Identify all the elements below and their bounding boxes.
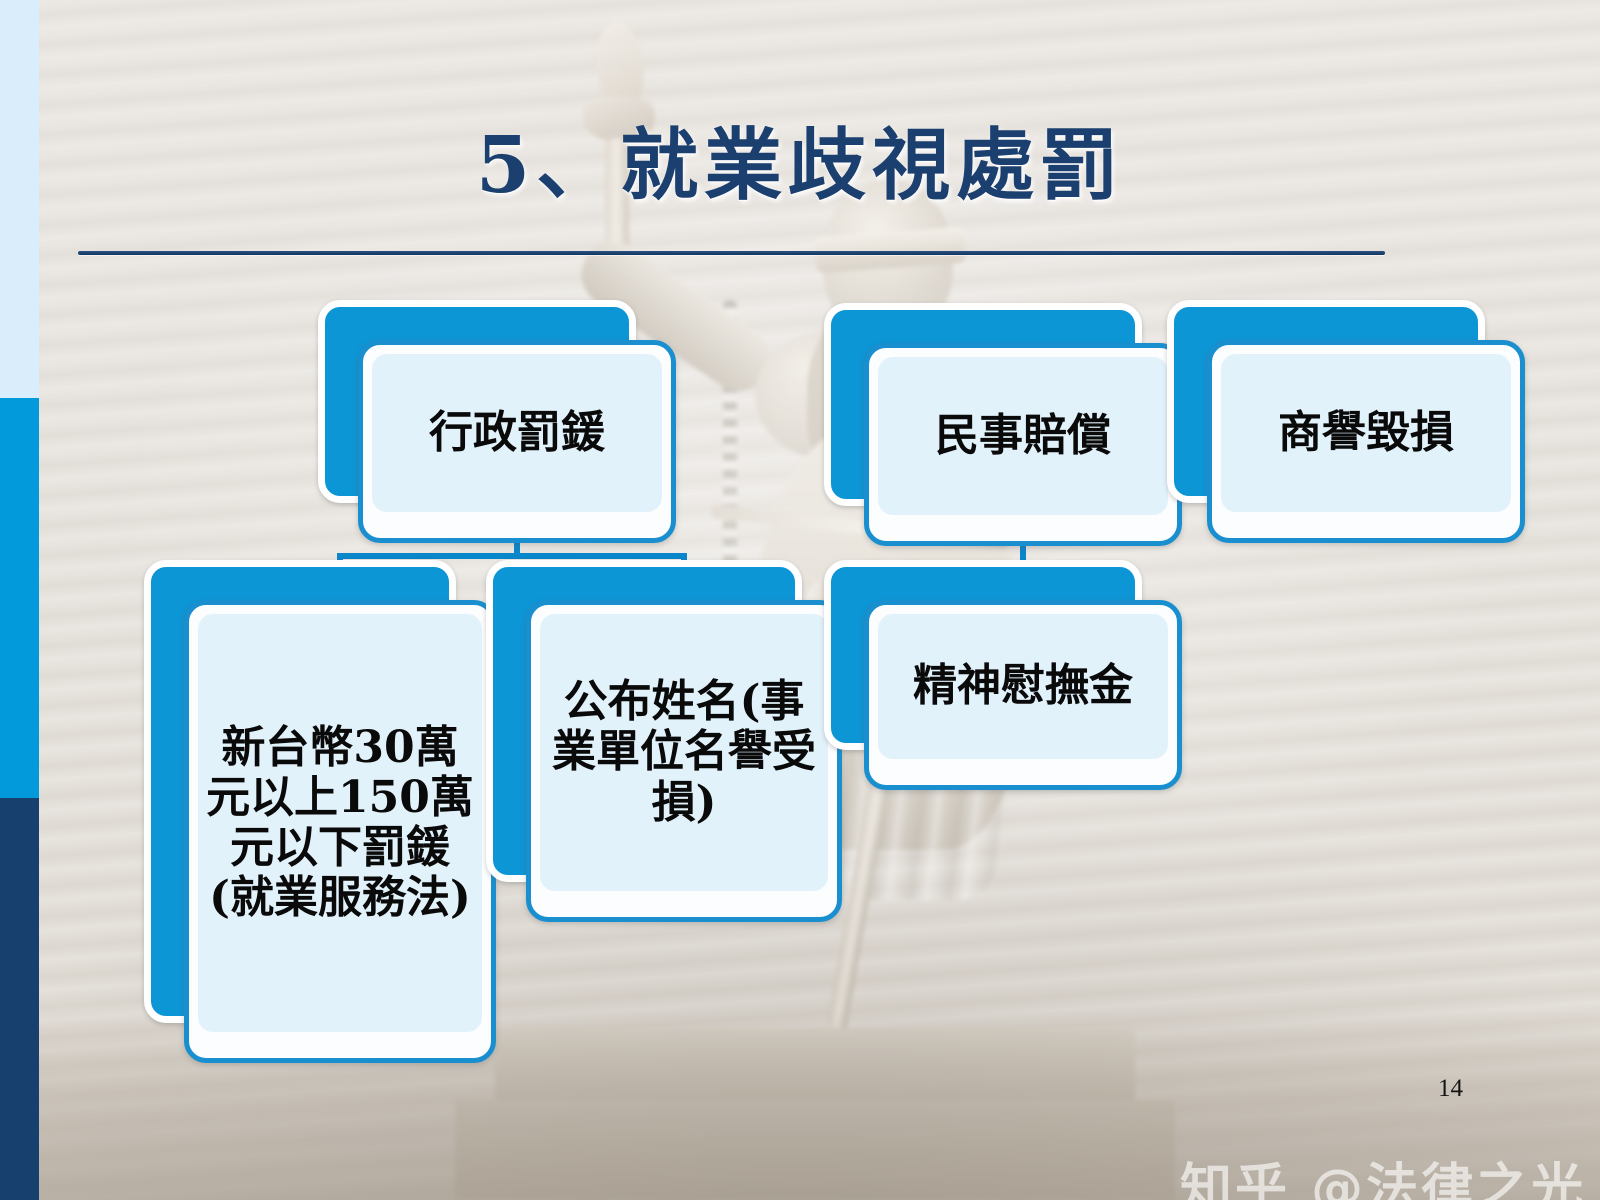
watermark-label: 知乎 @法律之光 xyxy=(1180,1146,1586,1200)
card-front-panel: 商譽毀損 xyxy=(1207,340,1525,543)
card-inner-fill: 民事賠償 xyxy=(878,357,1168,515)
card-front-panel: 精神慰撫金 xyxy=(864,600,1182,790)
card-label: 新台幣30萬元以上150萬元以下罰鍰(就業服務法) xyxy=(198,723,482,924)
card-inner-fill: 行政罰鍰 xyxy=(372,354,662,512)
card-front-panel: 新台幣30萬元以上150萬元以下罰鍰(就業服務法) xyxy=(184,600,496,1063)
sidebar-band-navy xyxy=(0,798,39,1200)
card-label: 民事賠償 xyxy=(929,411,1117,461)
title-divider-rule xyxy=(78,251,1385,255)
diagram-card-publish-name[interactable]: 公布姓名(事業單位名譽受損) xyxy=(486,560,842,922)
diagram-card-civil-compensation[interactable]: 民事賠償 xyxy=(824,303,1182,546)
card-label: 精神慰撫金 xyxy=(907,661,1139,711)
card-label: 行政罰鍰 xyxy=(423,408,611,458)
sidebar-band-bright xyxy=(0,398,39,798)
card-inner-fill: 商譽毀損 xyxy=(1221,354,1511,512)
diagram-card-goodwill-damage[interactable]: 商譽毀損 xyxy=(1167,300,1525,543)
slide-canvas: 5、就業歧視處罰 行政罰鍰民事賠償商譽毀損新台幣30萬元以上150萬元以下罰鍰(… xyxy=(0,0,1600,1200)
card-inner-fill: 公布姓名(事業單位名譽受損) xyxy=(540,614,828,891)
page-number: 14 xyxy=(1438,1075,1463,1103)
diagram-card-admin-fine[interactable]: 行政罰鍰 xyxy=(318,300,676,543)
card-front-panel: 民事賠償 xyxy=(864,343,1182,546)
card-label: 商譽毀損 xyxy=(1272,408,1460,458)
card-inner-fill: 精神慰撫金 xyxy=(878,614,1168,759)
page-title: 5、就業歧視處罰 xyxy=(0,103,1600,215)
card-inner-fill: 新台幣30萬元以上150萬元以下罰鍰(就業服務法) xyxy=(198,614,482,1032)
card-front-panel: 行政罰鍰 xyxy=(358,340,676,543)
card-label: 公布姓名(事業單位名譽受損) xyxy=(540,677,828,827)
diagram-card-fine-amount[interactable]: 新台幣30萬元以上150萬元以下罰鍰(就業服務法) xyxy=(144,560,496,1063)
diagram-card-mental-solatium[interactable]: 精神慰撫金 xyxy=(824,560,1182,790)
connector-bus-admin-fine xyxy=(340,553,684,559)
card-front-panel: 公布姓名(事業單位名譽受損) xyxy=(526,600,842,922)
